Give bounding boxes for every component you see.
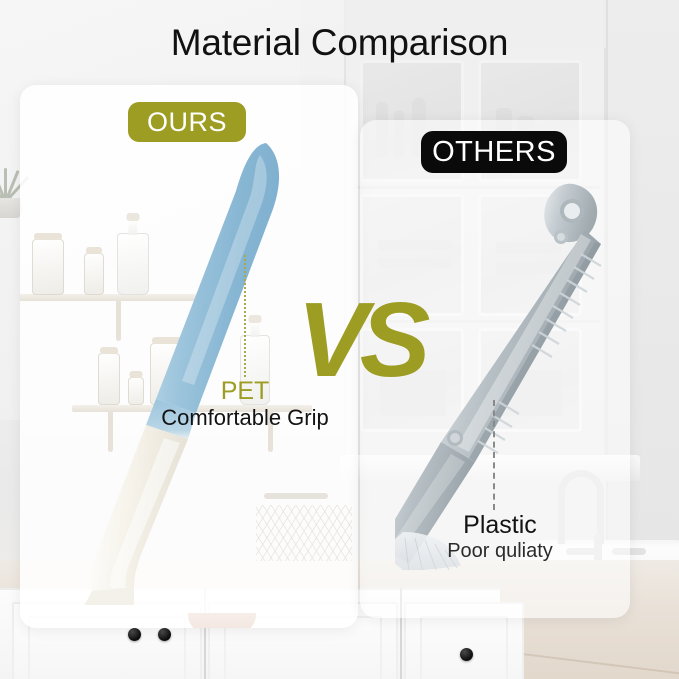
others-badge: OTHERS [421, 131, 567, 173]
cabinet-knob-far-right[interactable] [460, 648, 473, 661]
page-title: Material Comparison [0, 22, 679, 64]
product-image-ours [60, 135, 320, 605]
leader-line-plastic [493, 400, 495, 510]
cabinet-knob-left[interactable] [128, 628, 141, 641]
leader-line-pet [244, 255, 246, 377]
serving-bowl [188, 613, 256, 628]
ours-material-label: PET [110, 378, 380, 404]
callout-ours: PET Comfortable Grip [110, 378, 380, 432]
cabinet-knob-right[interactable] [158, 628, 171, 641]
others-material-label: Plastic [400, 512, 600, 538]
others-material-description: Poor quliaty [400, 539, 600, 563]
callout-others: Plastic Poor quliaty [400, 512, 600, 563]
comparison-graphic: Material Comparison [0, 0, 679, 679]
ours-material-description: Comfortable Grip [110, 405, 380, 431]
